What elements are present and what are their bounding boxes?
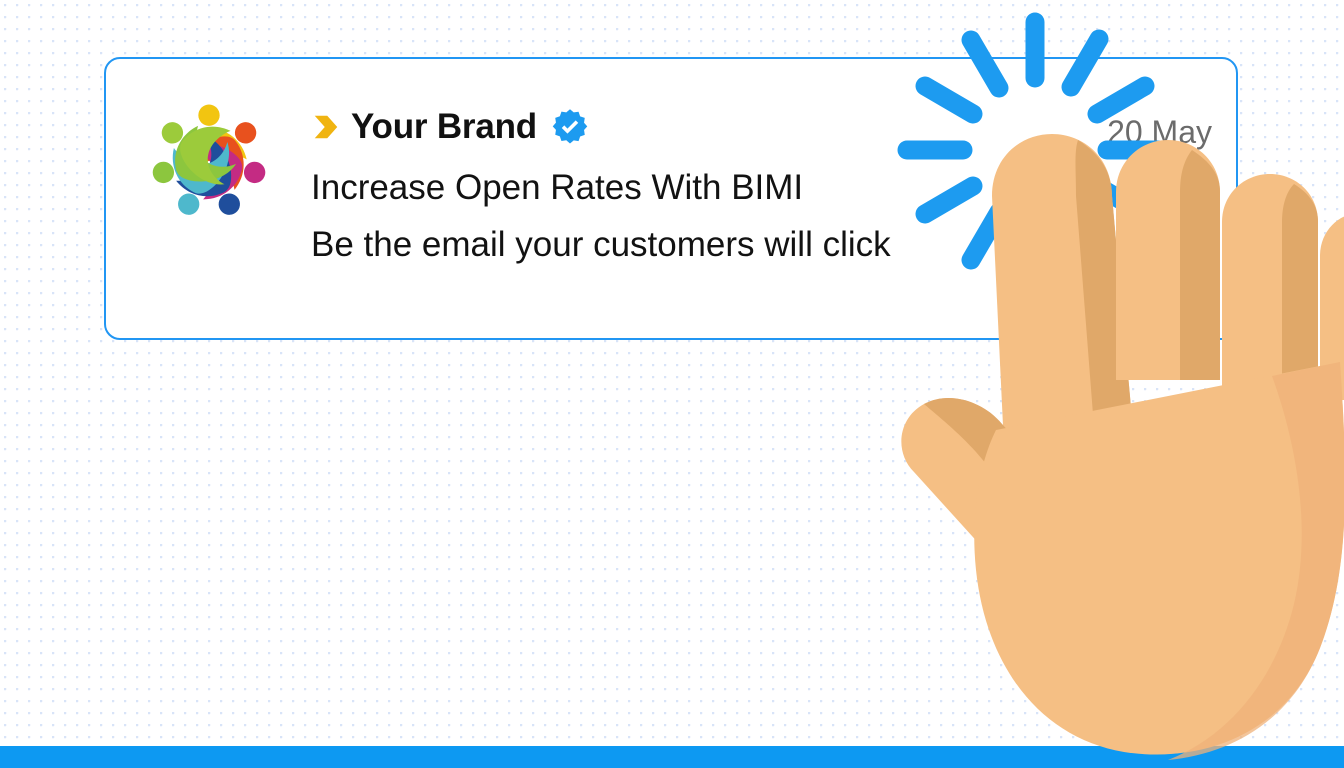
- page-background: Your Brand Increase Open Rates With BIMI…: [0, 0, 1344, 768]
- brand-bimi-logo: [144, 97, 274, 227]
- pointing-hand-icon: [880, 100, 1344, 760]
- sender-name: Your Brand: [351, 107, 537, 147]
- chevron-right-icon: [311, 112, 341, 142]
- verified-badge-icon: [551, 108, 589, 146]
